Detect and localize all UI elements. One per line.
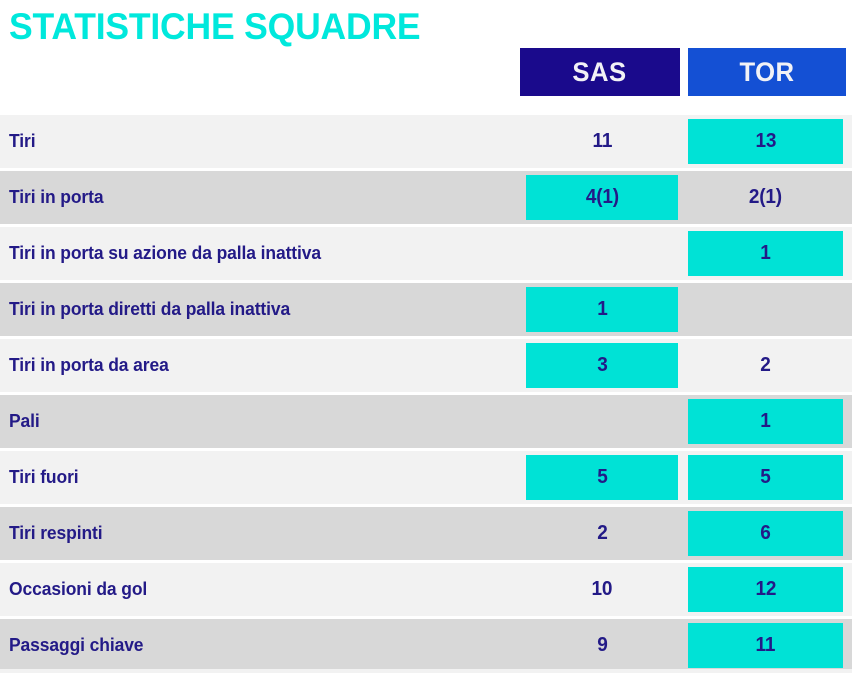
stat-value-away-text: 6 — [760, 522, 770, 545]
stat-value-away-text: 1 — [760, 410, 770, 433]
column-header-home-team: SAS — [520, 48, 680, 96]
table-row: Tiri in porta da area32 — [0, 339, 852, 392]
stat-value-away: 5 — [688, 455, 843, 500]
home-team-label: SAS — [573, 57, 627, 88]
table-row: Tiri in porta4(1)2(1) — [0, 171, 852, 224]
stat-label: Tiri in porta da area — [9, 339, 169, 392]
stat-value-home: 10 — [526, 567, 678, 612]
stat-value-away: 6 — [688, 511, 843, 556]
stat-value-away: 12 — [688, 567, 843, 612]
stat-value-home: 4(1) — [526, 175, 678, 220]
stat-value-away-text: 1 — [760, 242, 770, 265]
stat-value-away: 11 — [688, 623, 843, 668]
column-header-away-team: TOR — [688, 48, 846, 96]
stat-label: Tiri in porta su azione da palla inattiv… — [9, 227, 321, 280]
stat-value-home-text: 9 — [597, 634, 607, 657]
stat-value-home-text: 3 — [597, 354, 607, 377]
table-row: Tiri1113 — [0, 115, 852, 168]
stat-label: Occasioni da gol — [9, 563, 147, 616]
stat-value-home-text: 2 — [597, 522, 607, 545]
stat-value-home-text: 11 — [592, 130, 612, 153]
stat-value-home: 1 — [526, 287, 678, 332]
stat-value-home: 5 — [526, 455, 678, 500]
stat-value-away: 2 — [688, 343, 843, 388]
stat-value-away: 2(1) — [688, 175, 843, 220]
stat-value-home-text: 10 — [592, 578, 613, 601]
stat-label: Tiri in porta — [9, 171, 103, 224]
stat-value-away: 13 — [688, 119, 843, 164]
table-row: Tiri respinti26 — [0, 507, 852, 560]
stat-value-away-text: 13 — [755, 130, 776, 153]
stat-value-home: 11 — [526, 119, 678, 164]
table-header-row: SAS TOR — [0, 48, 852, 96]
stat-value-away-text: 12 — [755, 578, 776, 601]
table-bottom-strip — [0, 669, 852, 673]
stat-value-home-text: 1 — [597, 298, 607, 321]
away-team-label: TOR — [739, 57, 794, 88]
stat-value-away — [688, 287, 843, 332]
stat-label: Tiri fuori — [9, 451, 79, 504]
stat-value-away-text: 11 — [756, 634, 776, 657]
stat-value-away-text: 5 — [760, 466, 770, 489]
table-row: Tiri in porta diretti da palla inattiva1 — [0, 283, 852, 336]
stats-table-body: Tiri1113Tiri in porta4(1)2(1)Tiri in por… — [0, 115, 852, 675]
table-row: Tiri fuori55 — [0, 451, 852, 504]
stat-value-home — [526, 231, 678, 276]
stat-value-home — [526, 399, 678, 444]
stats-panel: STATISTICHE SQUADRE SAS TOR Tiri1113Tiri… — [0, 0, 852, 673]
table-row: Tiri in porta su azione da palla inattiv… — [0, 227, 852, 280]
stat-value-away: 1 — [688, 399, 843, 444]
stat-label: Tiri respinti — [9, 507, 102, 560]
stat-label: Tiri in porta diretti da palla inattiva — [9, 283, 290, 336]
page-title: STATISTICHE SQUADRE — [9, 5, 420, 49]
stat-value-home: 2 — [526, 511, 678, 556]
stat-label: Tiri — [9, 115, 35, 168]
stat-label: Pali — [9, 395, 40, 448]
stat-value-home: 9 — [526, 623, 678, 668]
stat-value-home: 3 — [526, 343, 678, 388]
stat-label: Passaggi chiave — [9, 619, 143, 672]
table-row: Pali1 — [0, 395, 852, 448]
table-row: Passaggi chiave911 — [0, 619, 852, 672]
stat-value-away-text: 2(1) — [749, 186, 782, 209]
stat-value-away-text: 2 — [760, 354, 770, 377]
stat-value-home-text: 4(1) — [585, 186, 618, 209]
stat-value-away: 1 — [688, 231, 843, 276]
stat-value-home-text: 5 — [597, 466, 607, 489]
table-row: Occasioni da gol1012 — [0, 563, 852, 616]
